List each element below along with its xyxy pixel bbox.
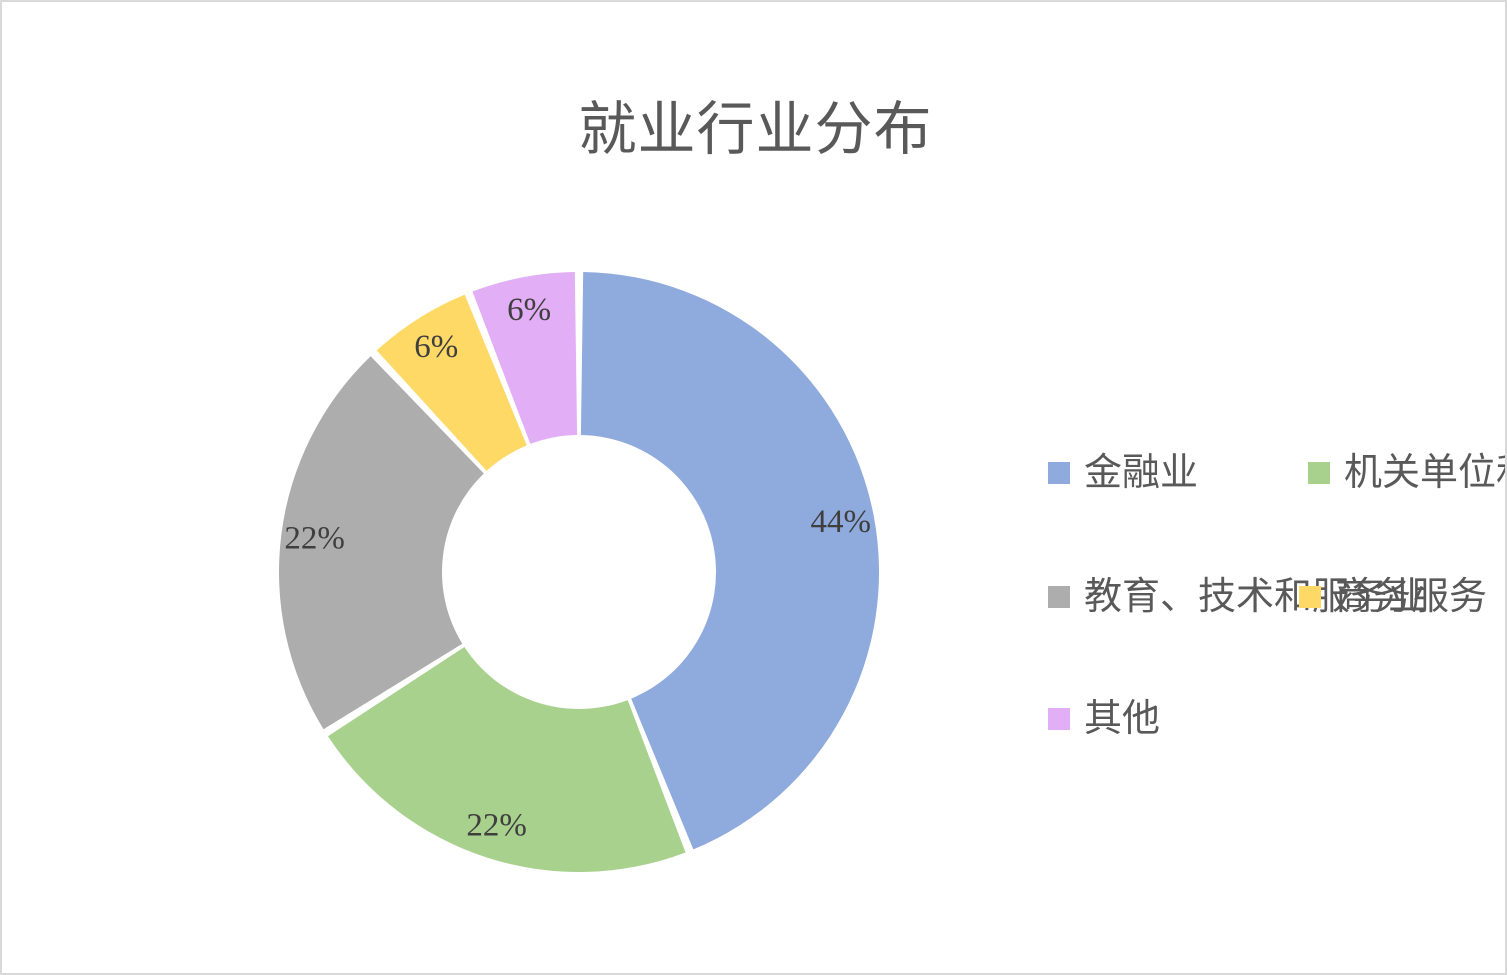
legend-swatch-icon (1308, 462, 1330, 484)
slice-value-label: 44% (811, 504, 872, 540)
legend-item-label: 金融业 (1084, 454, 1198, 492)
legend-item[interactable]: 金融业 (1048, 454, 1198, 492)
slice-value-label: 6% (507, 292, 551, 328)
chart-legend: 金融业机关单位和事业单位教育、技术和服务业商务服务其他 (1042, 442, 1507, 742)
legend-swatch-icon (1048, 708, 1070, 730)
slice-value-label: 22% (284, 521, 345, 557)
donut-slices (279, 272, 879, 872)
legend-swatch-icon (1048, 462, 1070, 484)
legend-item-label: 其他 (1084, 700, 1160, 738)
legend-swatch-icon (1048, 586, 1070, 608)
slice-value-label: 22% (466, 807, 527, 843)
legend-item[interactable]: 商务服务 (1299, 578, 1487, 616)
legend-item[interactable]: 机关单位和事业单位 (1308, 454, 1507, 492)
slice-value-label: 6% (414, 329, 458, 365)
legend-item[interactable]: 其他 (1048, 700, 1160, 738)
legend-item-label: 商务服务 (1335, 578, 1487, 616)
legend-item-label: 机关单位和事业单位 (1344, 454, 1507, 492)
legend-swatch-icon (1299, 586, 1321, 608)
donut-svg: 44%22%22%6%6% (279, 272, 879, 872)
chart-frame: 就业行业分布 44%22%22%6%6% 金融业机关单位和事业单位教育、技术和服… (0, 0, 1507, 975)
chart-title: 就业行业分布 (2, 98, 1507, 162)
donut-chart: 44%22%22%6%6% (279, 272, 879, 872)
